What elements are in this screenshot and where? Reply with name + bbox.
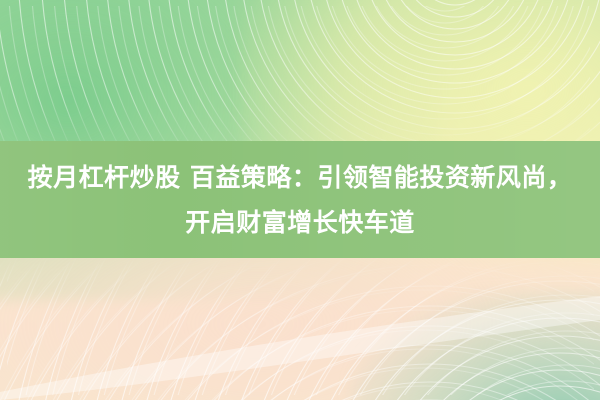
- background-glow-bottom-right: [350, 290, 600, 400]
- headline-line-2: 开启财富增长快车道: [6, 200, 594, 245]
- page-title: 按月杠杆炒股 百益策略：引领智能投资新风尚， 开启财富增长快车道: [0, 155, 600, 245]
- headline-line-1: 按月杠杆炒股 百益策略：引领智能投资新风尚，: [6, 155, 594, 200]
- banner-image: 按月杠杆炒股 百益策略：引领智能投资新风尚， 开启财富增长快车道: [0, 0, 600, 400]
- headline-band: 按月杠杆炒股 百益策略：引领智能投资新风尚， 开启财富增长快车道: [0, 141, 600, 258]
